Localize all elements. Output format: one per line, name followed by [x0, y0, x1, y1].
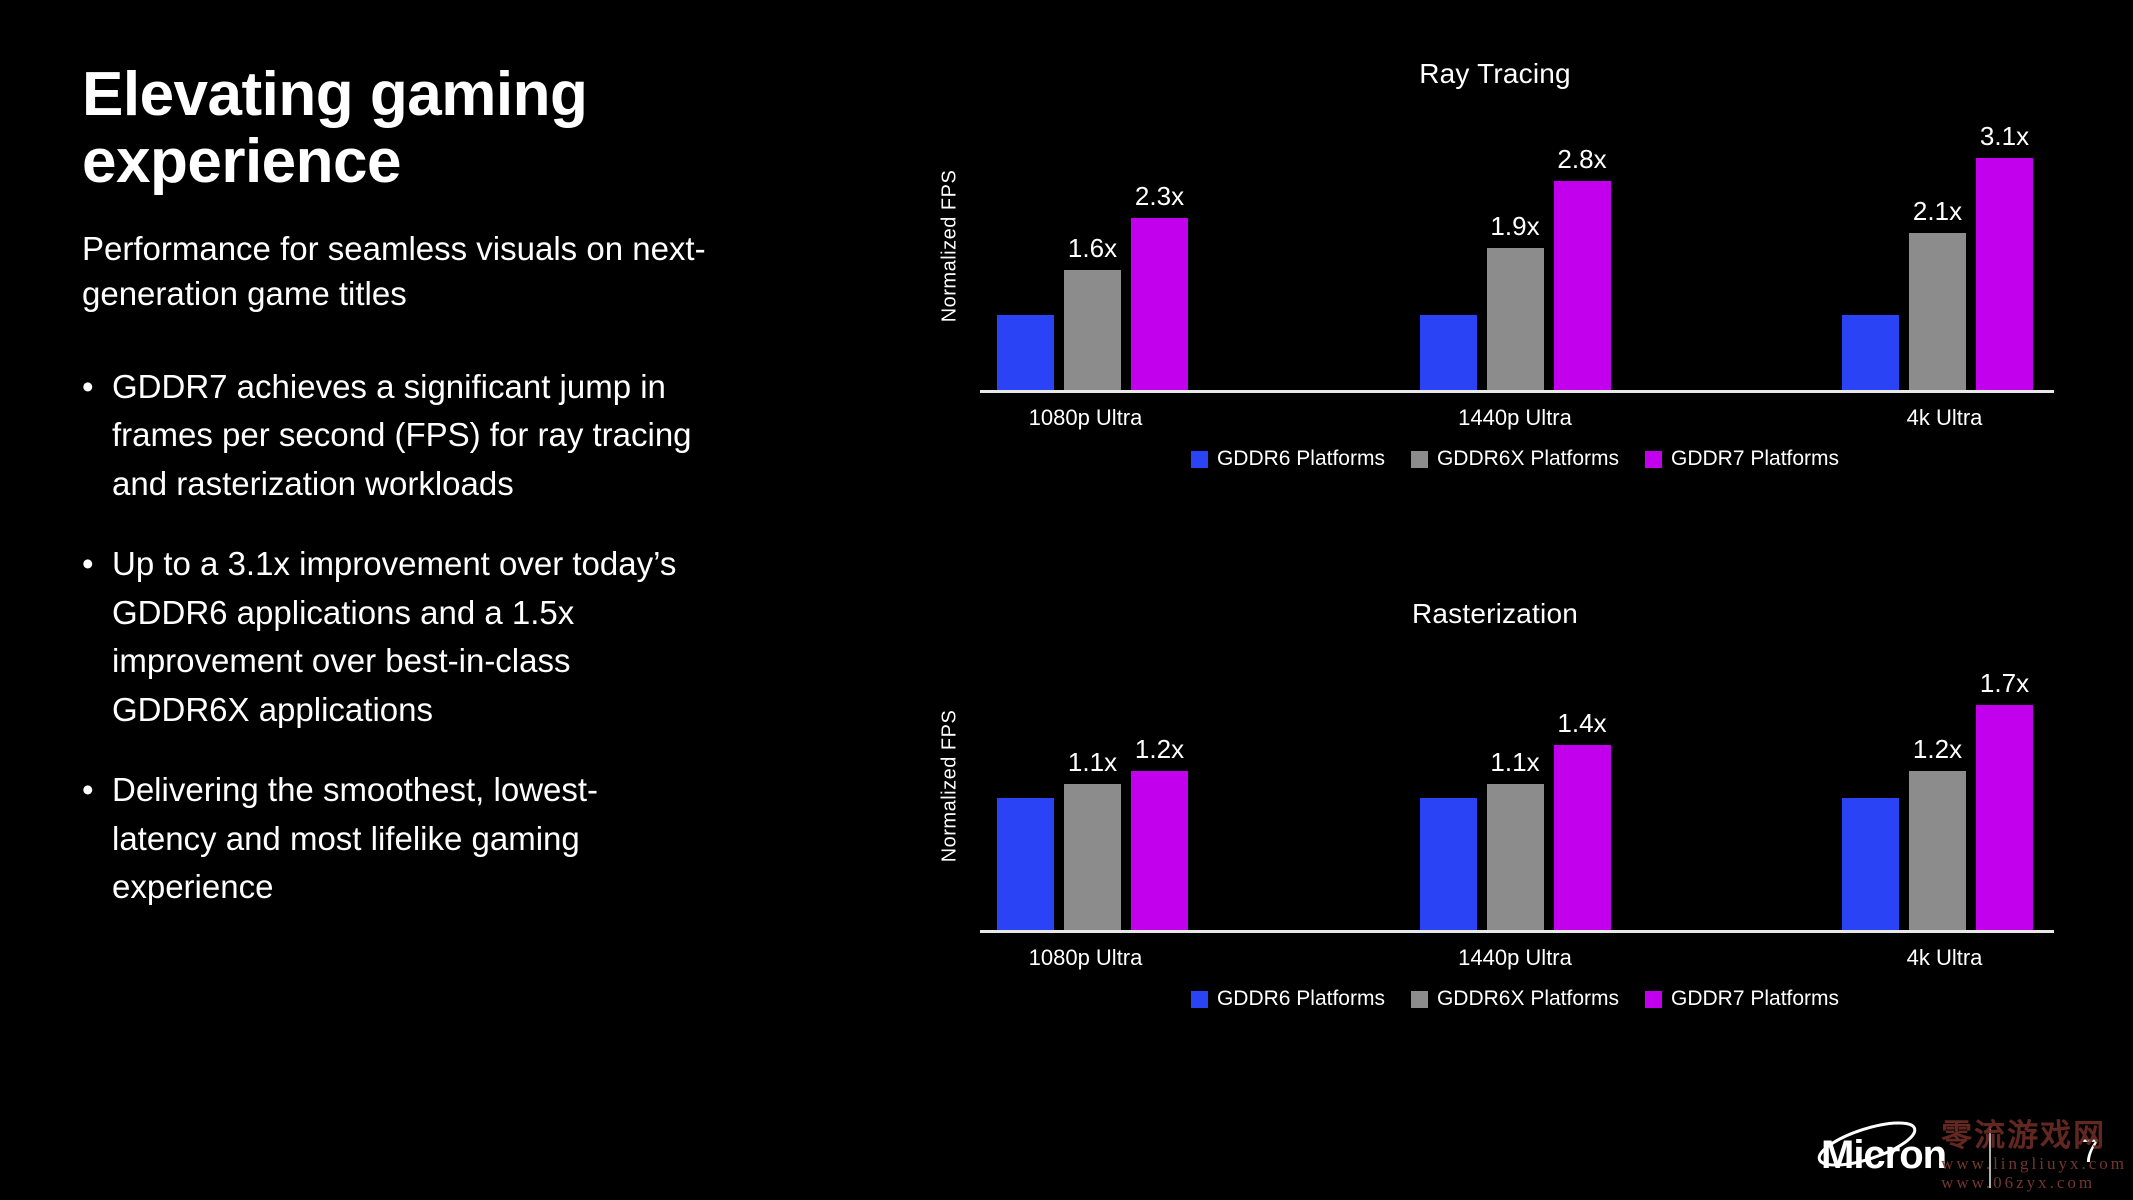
bar-column: 1.9x: [1487, 211, 1544, 390]
list-item-text: Up to a 3.1x improvement over today’s GD…: [112, 540, 702, 734]
bar-column: [997, 761, 1054, 930]
legend-item[interactable]: GDDR6X Platforms: [1411, 987, 1619, 1011]
slide-footer: Micron 7 零流游戏网 www.lingliuyx.com www.06z…: [1803, 1104, 2133, 1200]
bar-column: 1.1x: [1064, 747, 1121, 930]
x-axis-tick-labels: 1080p Ultra1440p Ultra4k Ultra: [970, 945, 2060, 971]
bar-column: 2.3x: [1131, 181, 1188, 390]
y-axis-label: Normalized FPS: [930, 98, 970, 393]
charts-column: Ray Tracing Normalized FPS 1.6x2.3x 1.9x…: [930, 58, 2060, 1098]
bar: [1842, 798, 1899, 930]
chart-ray-tracing: Ray Tracing Normalized FPS 1.6x2.3x 1.9x…: [930, 58, 2060, 558]
micron-wordmark: Micron: [1821, 1133, 1946, 1178]
bar-value-label: 2.3x: [1135, 181, 1184, 212]
bar: [1064, 784, 1121, 930]
bar: [1554, 745, 1611, 930]
x-axis-tick-label: 1440p Ultra: [1422, 405, 1609, 431]
bar: [1976, 705, 2033, 930]
bar: [1420, 315, 1477, 390]
bar-group: 1.2x1.7x: [1837, 668, 2038, 930]
bar: [1487, 248, 1544, 390]
x-axis-tick-label: 1080p Ultra: [992, 405, 1179, 431]
bar-column: [997, 278, 1054, 390]
bar-value-label: 1.2x: [1913, 734, 1962, 765]
slide-subtitle: Performance for seamless visuals on next…: [82, 226, 742, 317]
x-axis-tick-label: 4k Ultra: [1851, 945, 2038, 971]
bar-value-label: 1.7x: [1980, 668, 2029, 699]
bullet-list: • GDDR7 achieves a significant jump in f…: [82, 363, 782, 912]
chart-legend: GDDR6 PlatformsGDDR6X PlatformsGDDR7 Pla…: [930, 447, 2060, 471]
bar-value-label: 2.8x: [1557, 144, 1606, 175]
bar-column: 1.2x: [1131, 734, 1188, 930]
bar-value-label: 2.1x: [1913, 196, 1962, 227]
legend-swatch-icon: [1645, 991, 1662, 1008]
legend-label: GDDR7 Platforms: [1671, 447, 1839, 471]
bar: [1131, 771, 1188, 930]
bar-column: 1.7x: [1976, 668, 2033, 930]
bar: [1064, 270, 1121, 390]
x-axis-line: [980, 930, 2054, 933]
legend-label: GDDR6X Platforms: [1437, 987, 1619, 1011]
bar-column: 2.1x: [1909, 196, 1966, 390]
bar-column: 2.8x: [1554, 144, 1611, 390]
list-item-text: Delivering the smoothest, lowest-latency…: [112, 766, 702, 912]
bullet-marker-icon: •: [82, 363, 112, 412]
list-item: • GDDR7 achieves a significant jump in f…: [82, 363, 702, 509]
watermark-url-primary: www.lingliuyx.com: [1941, 1154, 2127, 1173]
bar: [1131, 218, 1188, 390]
legend-label: GDDR6 Platforms: [1217, 447, 1385, 471]
bullet-marker-icon: •: [82, 766, 112, 815]
x-axis-tick-labels: 1080p Ultra1440p Ultra4k Ultra: [970, 405, 2060, 431]
micron-logo: Micron: [1821, 1133, 1946, 1178]
bar-groups: 1.6x2.3x 1.9x2.8x 2.1x3.1x: [970, 98, 2060, 393]
chart-title: Rasterization: [930, 598, 2060, 630]
bar-value-label: 1.6x: [1068, 233, 1117, 264]
plot-area: 1.1x1.2x 1.1x1.4x 1.2x1.7x: [970, 638, 2060, 933]
x-axis-tick-label: 1440p Ultra: [1422, 945, 1609, 971]
legend-swatch-icon: [1191, 991, 1208, 1008]
bar-column: 1.2x: [1909, 734, 1966, 930]
bar-column: 1.6x: [1064, 233, 1121, 390]
legend-label: GDDR6 Platforms: [1217, 987, 1385, 1011]
bar: [1909, 771, 1966, 930]
legend-item[interactable]: GDDR7 Platforms: [1645, 987, 1839, 1011]
watermark-url-secondary: www.06zyx.com: [1941, 1173, 2127, 1192]
bar-column: [1842, 278, 1899, 390]
bar-column: 1.4x: [1554, 708, 1611, 930]
bar-value-label: 1.2x: [1135, 734, 1184, 765]
plot-area: 1.6x2.3x 1.9x2.8x 2.1x3.1x: [970, 98, 2060, 393]
list-item-text: GDDR7 achieves a significant jump in fra…: [112, 363, 702, 509]
x-axis-tick-label: 4k Ultra: [1851, 405, 2038, 431]
legend-swatch-icon: [1411, 451, 1428, 468]
x-axis-line: [980, 390, 2054, 393]
bar-value-label: 1.1x: [1490, 747, 1539, 778]
slide-text-column: Elevating gaming experience Performance …: [82, 62, 782, 944]
bar-column: 3.1x: [1976, 121, 2033, 390]
page-title: Elevating gaming experience: [82, 62, 782, 196]
bar: [1487, 784, 1544, 930]
watermark: 零流游戏网 www.lingliuyx.com www.06zyx.com: [1941, 1119, 2127, 1192]
list-item: • Up to a 3.1x improvement over today’s …: [82, 540, 702, 734]
list-item: • Delivering the smoothest, lowest-laten…: [82, 766, 702, 912]
bar-column: [1420, 278, 1477, 390]
legend-item[interactable]: GDDR6X Platforms: [1411, 447, 1619, 471]
bar-group: 1.1x1.2x: [992, 734, 1193, 930]
legend-item[interactable]: GDDR6 Platforms: [1191, 447, 1385, 471]
bar: [1976, 158, 2033, 390]
bullet-marker-icon: •: [82, 540, 112, 589]
legend-label: GDDR7 Platforms: [1671, 987, 1839, 1011]
bar: [1420, 798, 1477, 930]
bar-value-label: 1.9x: [1490, 211, 1539, 242]
chart-rasterization: Rasterization Normalized FPS 1.1x1.2x 1.…: [930, 598, 2060, 1098]
chart-title: Ray Tracing: [930, 58, 2060, 90]
legend-item[interactable]: GDDR7 Platforms: [1645, 447, 1839, 471]
bar: [997, 798, 1054, 930]
x-axis-tick-label: 1080p Ultra: [992, 945, 1179, 971]
bar-group: 2.1x3.1x: [1837, 121, 2038, 390]
bar-group: 1.9x2.8x: [1415, 144, 1616, 390]
watermark-title: 零流游戏网: [1941, 1119, 2127, 1154]
bar-column: 1.1x: [1487, 747, 1544, 930]
bar-group: 1.6x2.3x: [992, 181, 1193, 390]
bar-value-label: 1.1x: [1068, 747, 1117, 778]
chart-legend: GDDR6 PlatformsGDDR6X PlatformsGDDR7 Pla…: [930, 987, 2060, 1011]
y-axis-label: Normalized FPS: [930, 638, 970, 933]
bar-value-label: 1.4x: [1557, 708, 1606, 739]
legend-swatch-icon: [1411, 991, 1428, 1008]
legend-swatch-icon: [1191, 451, 1208, 468]
bar-column: [1842, 761, 1899, 930]
bar-groups: 1.1x1.2x 1.1x1.4x 1.2x1.7x: [970, 638, 2060, 933]
bar: [1842, 315, 1899, 390]
legend-item[interactable]: GDDR6 Platforms: [1191, 987, 1385, 1011]
bar: [997, 315, 1054, 390]
bar: [1909, 233, 1966, 390]
bar: [1554, 181, 1611, 390]
bar-column: [1420, 761, 1477, 930]
bar-group: 1.1x1.4x: [1415, 708, 1616, 930]
legend-label: GDDR6X Platforms: [1437, 447, 1619, 471]
legend-swatch-icon: [1645, 451, 1662, 468]
bar-value-label: 3.1x: [1980, 121, 2029, 152]
